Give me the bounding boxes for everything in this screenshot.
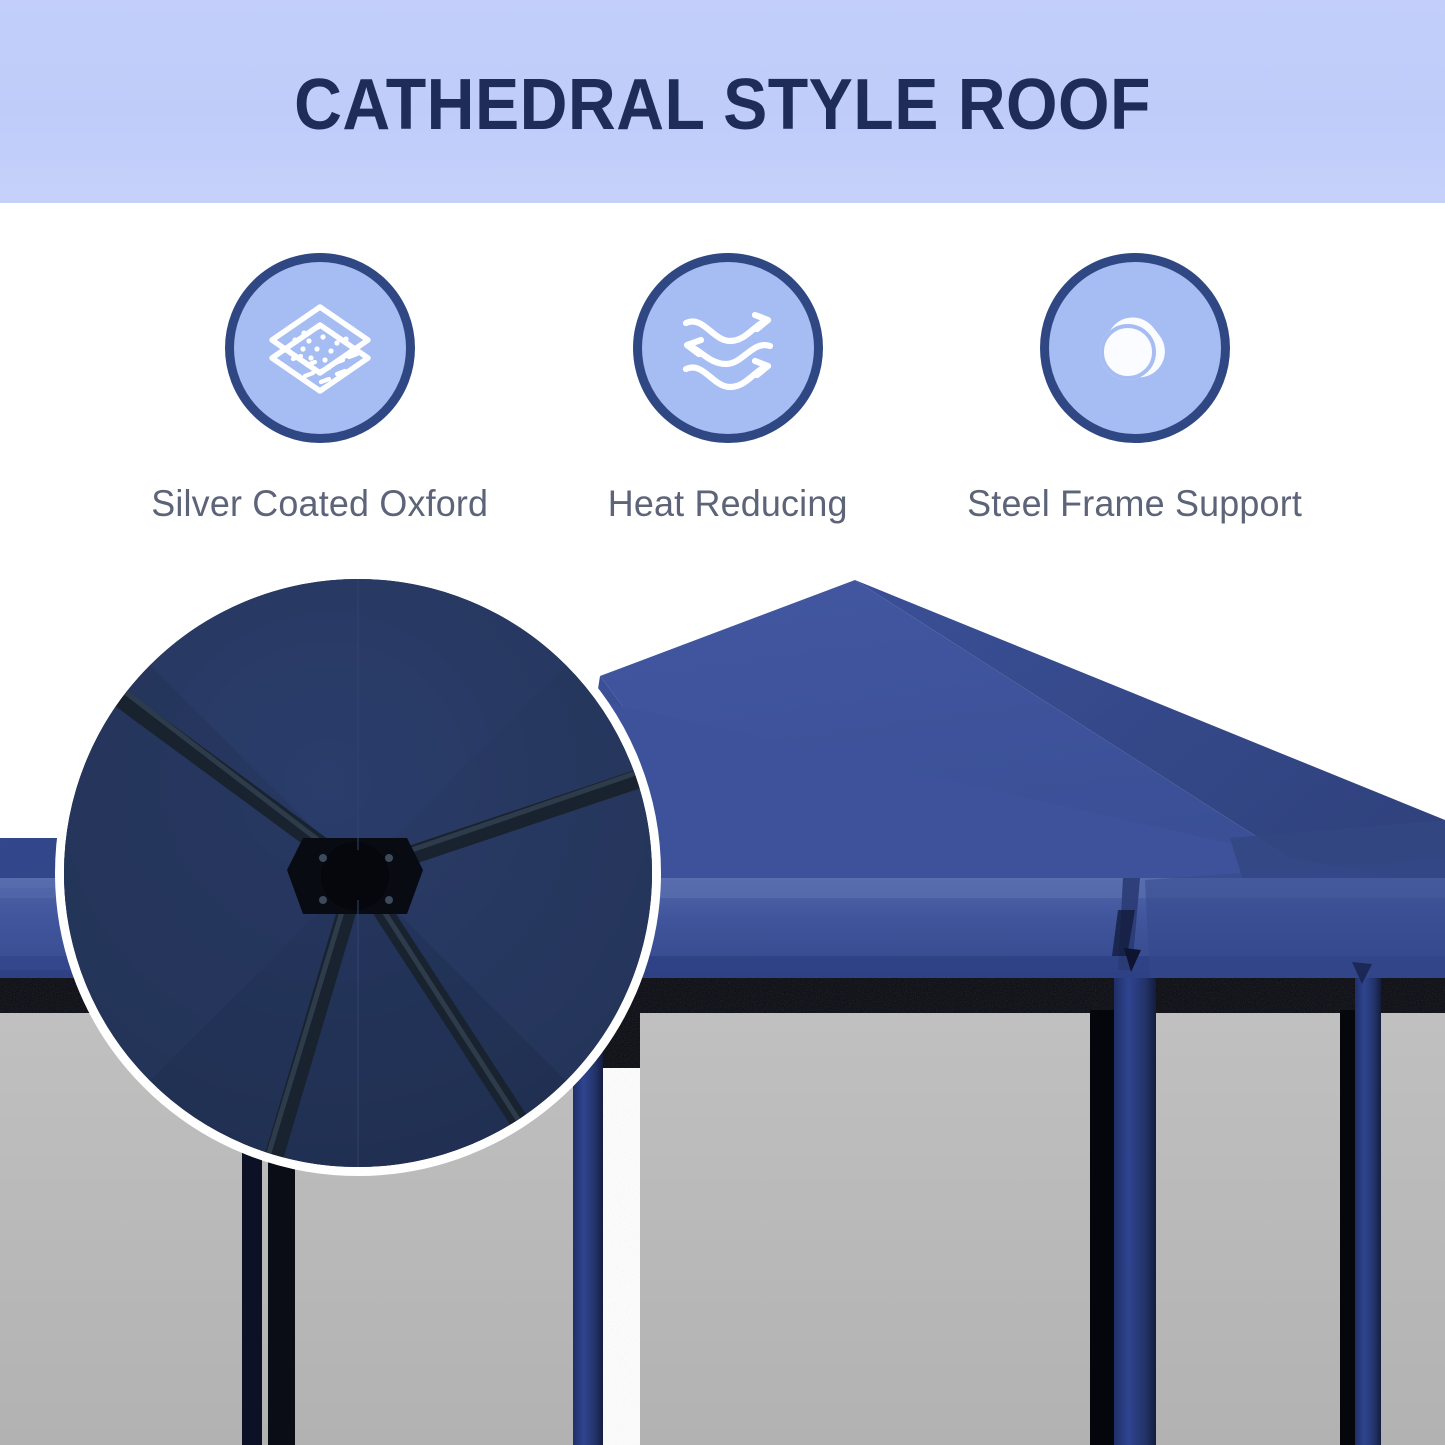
feature-icon-badge — [633, 253, 823, 443]
feature-item-heat-reducing: Heat Reducing — [518, 203, 938, 558]
page-title: CATHEDRAL STYLE ROOF — [58, 0, 1387, 203]
feature-label: Heat Reducing — [608, 483, 848, 525]
feature-icon-badge — [1040, 253, 1230, 443]
detail-callout-circle — [55, 570, 661, 1176]
product-infographic: CATHEDRAL STYLE ROOF — [0, 0, 1445, 1445]
feature-row: Silver Coated Oxford — [0, 203, 1445, 558]
feature-icon-badge — [225, 253, 415, 443]
airflow-waves-icon — [669, 289, 787, 407]
product-photo — [0, 558, 1445, 1445]
canopy-underside-frame-detail — [55, 570, 661, 1176]
feature-item-silver-coated-oxford: Silver Coated Oxford — [110, 203, 530, 558]
fabric-layers-icon — [261, 289, 379, 407]
feature-label: Silver Coated Oxford — [151, 483, 488, 525]
feature-label: Steel Frame Support — [968, 483, 1303, 525]
feature-item-steel-frame-support: Steel Frame Support — [925, 203, 1345, 558]
steel-tube-icon — [1076, 289, 1194, 407]
header-banner: CATHEDRAL STYLE ROOF — [0, 0, 1445, 203]
